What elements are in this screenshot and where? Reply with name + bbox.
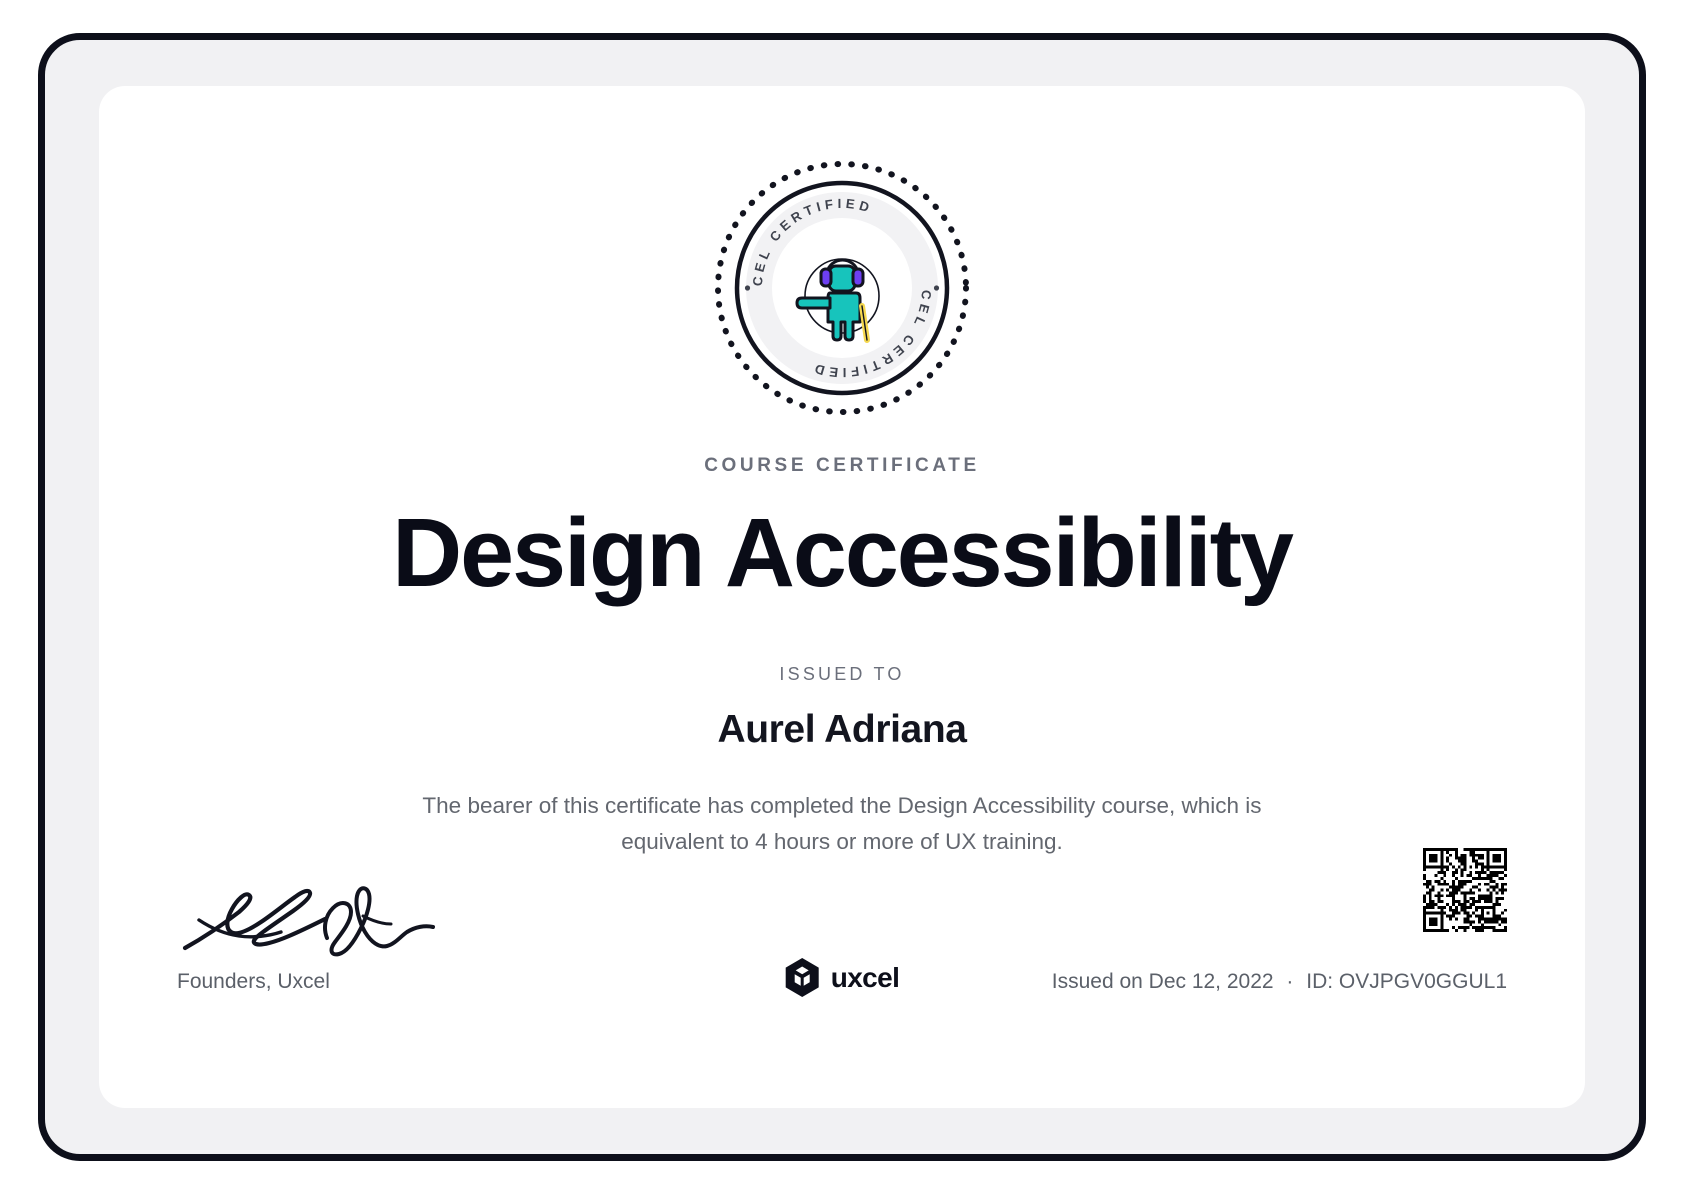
issued-on-text: Issued on Dec 12, 2022 xyxy=(1052,970,1274,993)
uxcel-wordmark: uxcel xyxy=(831,962,900,994)
issued-to-label: ISSUED TO xyxy=(99,664,1585,685)
founders-label: Founders, Uxcel xyxy=(177,970,330,994)
certificate-title: Design Accessibility xyxy=(99,501,1585,606)
founder-signatures xyxy=(177,876,477,966)
issue-separator: · xyxy=(1279,970,1300,993)
certificate-description: The bearer of this certificate has compl… xyxy=(422,788,1262,860)
uxcel-brand-logo: uxcel xyxy=(785,958,900,997)
uxcel-certified-badge: UXCEL CERTIFIED UXCEL CERTIFIED xyxy=(710,156,974,420)
signature-icon xyxy=(177,876,477,966)
uxcel-hexagon-logo-icon xyxy=(785,958,820,997)
certificate-card: UXCEL CERTIFIED UXCEL CERTIFIED xyxy=(99,86,1585,1108)
certificate-page: UXCEL CERTIFIED UXCEL CERTIFIED xyxy=(0,0,1684,1190)
eyebrow-label: COURSE CERTIFICATE xyxy=(99,455,1585,477)
issue-info: Issued on Dec 12, 2022 · ID: OVJPGV0GGUL… xyxy=(1052,970,1507,994)
certificate-id-text: ID: OVJPGV0GGUL1 xyxy=(1306,970,1507,993)
badge-seal-icon: UXCEL CERTIFIED UXCEL CERTIFIED xyxy=(710,156,974,420)
recipient-name: Aurel Adriana xyxy=(99,708,1585,752)
certificate-outer-frame: UXCEL CERTIFIED UXCEL CERTIFIED xyxy=(38,33,1646,1161)
qr-code-icon[interactable] xyxy=(1423,848,1507,932)
verification-qr-code[interactable] xyxy=(1423,848,1507,932)
